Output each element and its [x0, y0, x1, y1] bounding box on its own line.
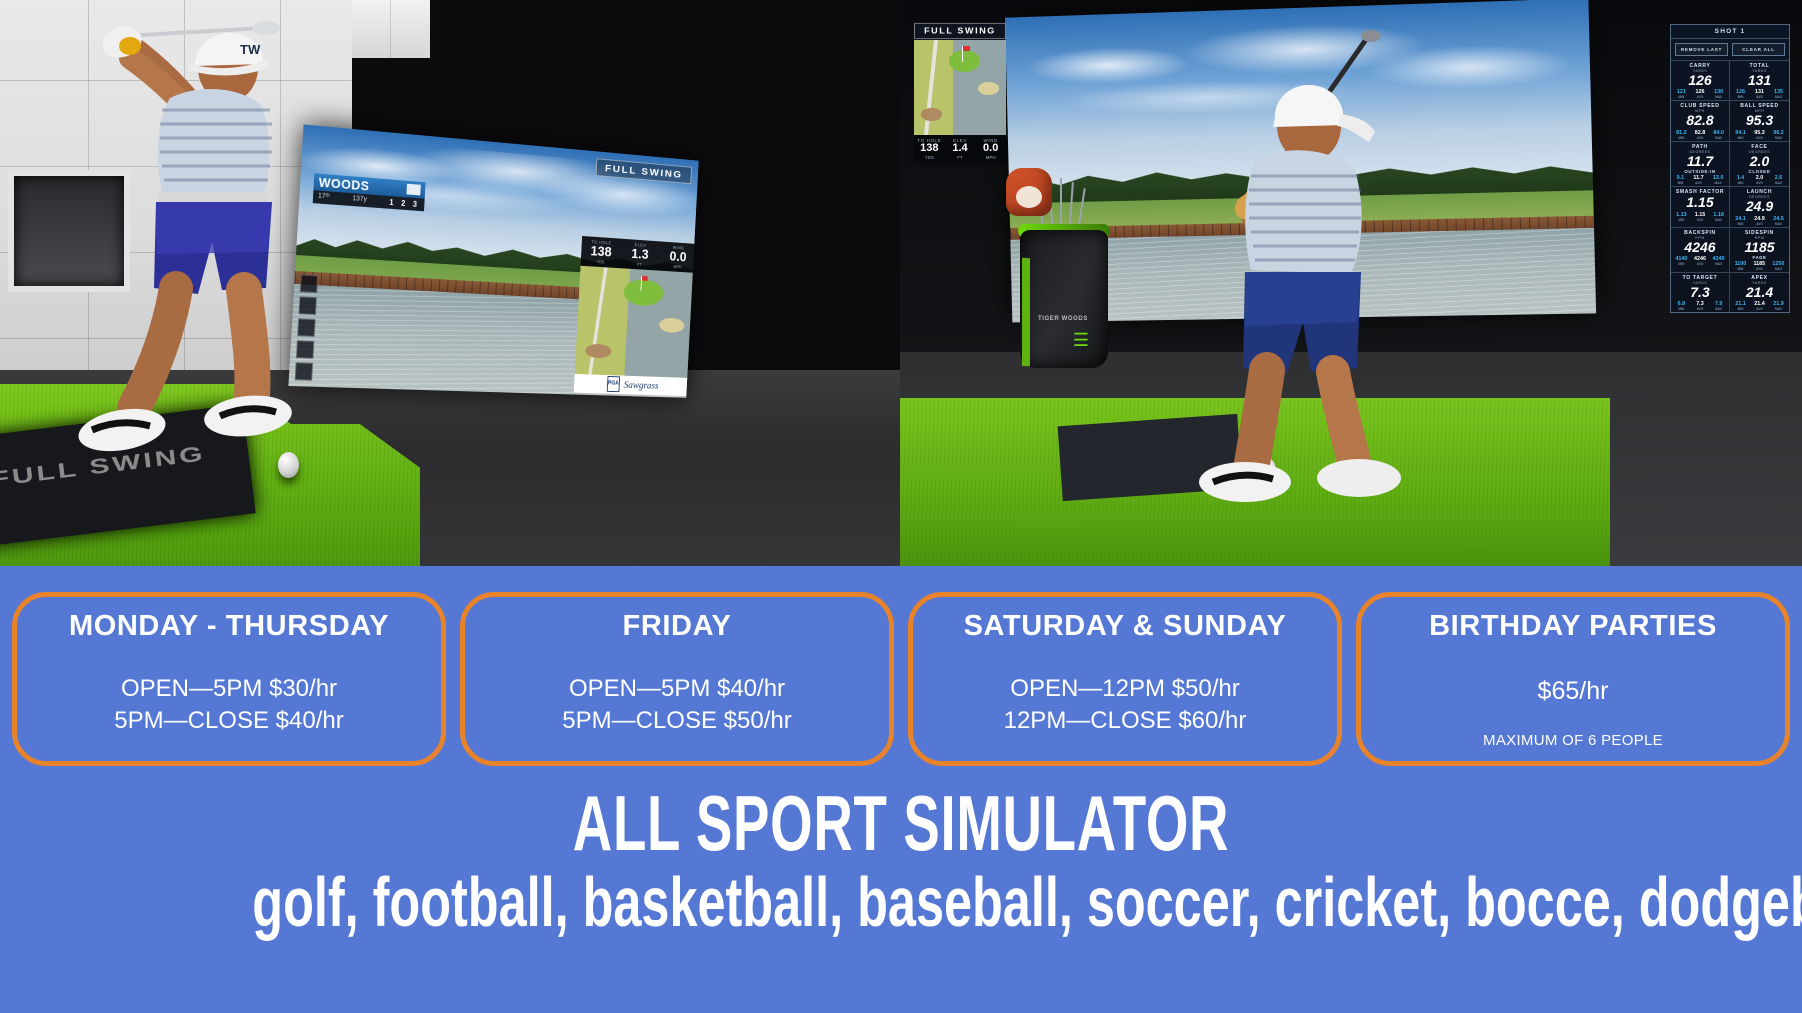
stat-minmax-label: AVG — [1755, 95, 1764, 99]
right-bay-photo: TIGER WOODS ☰ FULL SWING TO HOLE — [900, 0, 1802, 566]
stat-minmax-label: AVG — [1693, 181, 1703, 185]
stat-minmax-label: MIN — [1678, 307, 1686, 311]
stat-minmax-item: 1185AVG — [1753, 261, 1765, 271]
stat-unit: YDS — [914, 155, 945, 160]
pricing-banner: MONDAY - THURSDAYOPEN—5PM $30/hr5PM—CLOS… — [0, 566, 1802, 1013]
stat-minmax-label: MIN — [1735, 307, 1746, 311]
stat-unit: MPH — [975, 155, 1006, 160]
stat-minmax-value: 24.5 — [1773, 216, 1784, 222]
stat-minmax-label: MIN — [1676, 136, 1687, 140]
stat-to-hole: TO HOLE 138 YDS — [581, 239, 622, 265]
stat-minmax-label: MAX — [1713, 262, 1725, 266]
pricing-card[interactable]: FRIDAYOPEN—5PM $40/hr5PM—CLOSE $50/hr — [460, 592, 894, 766]
pricing-card-title: SATURDAY & SUNDAY — [964, 611, 1287, 643]
stat-minmax-label: MAX — [1773, 307, 1784, 311]
pricing-card-line: 12PM—CLOSE $60/hr — [1004, 705, 1247, 737]
stat-wind: WIND 0.0 MPH — [658, 244, 697, 270]
pricing-card-note: MAXIMUM OF 6 PEOPLE — [1483, 732, 1663, 749]
stat-cell: LAUNCHDEGREES24.924.1MIN24.9AVG24.5MAX — [1730, 186, 1789, 226]
stat-minmax-value: 1.13 — [1676, 212, 1687, 218]
stat-minmax-row: 24.1MIN24.9AVG24.5MAX — [1731, 216, 1788, 226]
stat-minmax-item: 84.0MAX — [1713, 130, 1724, 140]
stat-minmax-value: 82.8 — [1695, 130, 1706, 136]
hole-minimap-right — [914, 40, 1006, 135]
stat-minmax-row: 1100MIN1185AVG1250MAX — [1731, 261, 1788, 271]
pricing-card-title: BIRTHDAY PARTIES — [1429, 611, 1717, 643]
scoreboard-chip-icon — [406, 184, 420, 196]
hole-minimap-left — [575, 266, 696, 378]
stat-minmax-item: 24.9AVG — [1754, 216, 1765, 226]
stat-minmax-label: MIN — [1677, 95, 1686, 99]
headline-block: ALL SPORT SIMULATOR golf, football, bask… — [0, 786, 1802, 937]
stat-minmax-label: MAX — [1713, 218, 1724, 222]
bag-stripe — [1022, 258, 1030, 367]
stat-minmax-item: 121MIN — [1677, 89, 1686, 99]
stat-minmax-label: MAX — [1714, 95, 1723, 99]
stat-minmax-item: 7.9MAX — [1715, 301, 1723, 311]
stat-cell: PATHDEGREES11.7OUTSIDE-IN9.1MIN11.7AVG13… — [1671, 141, 1730, 186]
stat-minmax-label: MAX — [1772, 267, 1784, 271]
stat-value: 7.3 — [1672, 285, 1728, 300]
pricing-card-line: 5PM—CLOSE $40/hr — [114, 705, 343, 737]
stat-minmax-row: 21.1MIN21.4AVG21.9MAX — [1731, 301, 1788, 311]
headline-title: ALL SPORT SIMULATOR — [270, 786, 1531, 861]
stat-cell: BACKSPINRPM42464140MIN4246AVG4340MAX — [1671, 227, 1730, 272]
stat-minmax-label: MAX — [1774, 95, 1783, 99]
stat-cell: TOTALYARDS131126MIN131AVG135MAX — [1730, 60, 1789, 100]
golf-bag: TIGER WOODS ☰ — [1008, 168, 1120, 368]
stat-value: 1.4 — [945, 143, 976, 155]
stat-minmax-row: 1.13MIN1.15AVG1.18MAX — [1672, 212, 1728, 222]
full-swing-logo: FULL SWING — [914, 23, 1006, 39]
stat-value: 1.15 — [1672, 195, 1728, 210]
stat-minmax-item: 131AVG — [1755, 89, 1764, 99]
stat-minmax-item: 24.1MIN — [1735, 216, 1746, 226]
stat-value: 0.0 — [975, 143, 1006, 155]
photo-collage: FULL SWING FULL SWING WOODS 17ᵗʰ — [0, 0, 1802, 566]
stat-minmax-item: 96.2MAX — [1773, 130, 1784, 140]
stat-minmax-label: MIN — [1735, 136, 1746, 140]
stat-minmax-value: 96.2 — [1773, 130, 1784, 136]
stat-minmax-item: 9.1MIN — [1677, 175, 1685, 185]
minimap-pin-flag-icon — [962, 46, 963, 62]
stat-minmax-label: MIN — [1735, 267, 1747, 271]
pricing-card-lines: OPEN—12PM $50/hr12PM—CLOSE $60/hr — [1004, 673, 1247, 737]
stat-minmax-row: 121MIN126AVG130MAX — [1672, 89, 1728, 99]
stat-cell: BALL SPEEDMPH95.394.1MIN95.3AVG96.2MAX — [1730, 100, 1789, 140]
stat-minmax-item: 7.3AVG — [1696, 301, 1704, 311]
stat-minmax-item: 6.8MIN — [1678, 301, 1686, 311]
stat-minmax-item: 95.3AVG — [1754, 130, 1765, 140]
stat-subtext: CLOSED — [1731, 169, 1788, 174]
stat-cell: SMASH FACTOR1.151.13MIN1.15AVG1.18MAX — [1671, 186, 1730, 226]
simulator-screen-left: FULL SWING WOODS 17ᵗʰ 137y 1 2 3 — [288, 124, 698, 397]
stat-minmax-label: AVG — [1695, 136, 1706, 140]
stat-minmax-label: AVG — [1756, 181, 1764, 185]
stat-minmax-label: MIN — [1737, 181, 1745, 185]
stat-minmax-row: 1.4MIN2.0AVG2.6MAX — [1731, 175, 1788, 185]
shot-stats-grid: CARRYYARDS126121MIN126AVG130MAXTOTALYARD… — [1671, 60, 1789, 312]
stat-unit: FT — [945, 155, 976, 160]
stat-minmax-value: 24.9 — [1754, 216, 1765, 222]
stat-minmax-item: 21.1MIN — [1735, 301, 1746, 311]
stat-minmax-item: 81.2MIN — [1676, 130, 1687, 140]
pga-tour-logo-icon: PGA — [607, 376, 620, 392]
stat-minmax-item: 4340MAX — [1713, 256, 1725, 266]
pricing-card-line: OPEN—5PM $30/hr — [114, 673, 343, 705]
pricing-cards: MONDAY - THURSDAYOPEN—5PM $30/hr5PM—CLOS… — [0, 592, 1802, 766]
pricing-card-lines: OPEN—5PM $30/hr5PM—CLOSE $40/hr — [114, 673, 343, 737]
pricing-card-line: OPEN—12PM $50/hr — [1004, 673, 1247, 705]
stat-minmax-label: AVG — [1694, 262, 1706, 266]
stat-minmax-item: 126MIN — [1736, 89, 1745, 99]
tiger-headcover-icon — [1006, 168, 1052, 216]
golfer-figure-right — [1105, 30, 1435, 530]
shot-stats-buttons[interactable]: REMOVE LAST CLEAR ALL — [1671, 39, 1789, 60]
stat-minmax-item: 126AVG — [1695, 89, 1704, 99]
stat-minmax-item: 1.18MAX — [1713, 212, 1724, 222]
stat-minmax-value: 24.1 — [1735, 216, 1746, 222]
pricing-card-line: 5PM—CLOSE $50/hr — [562, 705, 791, 737]
stat-wind: WIND 0.0 MPH — [975, 138, 1006, 160]
stat-minmax-label: MAX — [1713, 136, 1724, 140]
stat-minmax-label: AVG — [1695, 95, 1704, 99]
left-bay-photo: FULL SWING FULL SWING WOODS 17ᵗʰ — [0, 0, 900, 566]
minimap-stats-right: TO HOLE 138 YDS ELEV 1.4 FT WIND 0.0 MPH — [914, 135, 1006, 163]
scoreboard-yardage: 137y — [352, 195, 367, 205]
stat-subtext: FADE — [1731, 255, 1788, 260]
stat-elev: ELEV 1.3 FT — [620, 241, 660, 267]
stat-minmax-value: 1.18 — [1713, 212, 1724, 218]
stat-value: 95.3 — [1731, 113, 1788, 128]
pricing-card-lines: OPEN—5PM $40/hr5PM—CLOSE $50/hr — [562, 673, 791, 737]
minimap-bunker-2 — [921, 108, 941, 120]
stat-minmax-item: 1100MIN — [1735, 261, 1747, 271]
stat-value: 2.0 — [1731, 154, 1788, 169]
stat-minmax-label: MIN — [1675, 262, 1687, 266]
course-name: Sawgrass — [623, 379, 658, 391]
stat-value: 21.4 — [1731, 285, 1788, 300]
stat-minmax-label: AVG — [1754, 307, 1765, 311]
stat-minmax-label: AVG — [1754, 222, 1765, 226]
stat-minmax-label: MIN — [1677, 181, 1685, 185]
stat-value: 131 — [1731, 73, 1788, 88]
stat-minmax-value: 1.15 — [1695, 212, 1706, 218]
stat-minmax-label: AVG — [1695, 218, 1706, 222]
stat-minmax-label: MAX — [1773, 136, 1784, 140]
minimap-overlay-left: TO HOLE 138 YDS ELEV 1.3 FT WIND 0.0 — [574, 236, 698, 396]
stat-minmax-row: 6.8MIN7.3AVG7.9MAX — [1672, 301, 1728, 311]
monster-logo-icon: ☰ — [1066, 330, 1096, 352]
stat-minmax-label: MAX — [1775, 181, 1783, 185]
stat-minmax-item: 24.5MAX — [1773, 216, 1784, 226]
stat-minmax-item: 4246AVG — [1694, 256, 1706, 266]
stat-minmax-item: 1.13MIN — [1676, 212, 1687, 222]
stat-elev: ELEV 1.4 FT — [945, 138, 976, 160]
pricing-card-line: OPEN—5PM $40/hr — [562, 673, 791, 705]
stat-cell: TO TARGETYARDS7.36.8MIN7.3AVG7.9MAX — [1671, 272, 1730, 312]
stat-minmax-value: 94.1 — [1735, 130, 1746, 136]
stat-cell: CARRYYARDS126121MIN126AVG130MAX — [1671, 60, 1730, 100]
stat-minmax-item: 1.4MIN — [1737, 175, 1745, 185]
stat-minmax-row: 81.2MIN82.8AVG84.0MAX — [1672, 130, 1728, 140]
stat-cell: SIDESPINRPM1185FADE1100MIN1185AVG1250MAX — [1730, 227, 1789, 272]
stat-value: 4246 — [1672, 240, 1728, 255]
stat-minmax-value: 84.0 — [1713, 130, 1724, 136]
pricing-card-title: FRIDAY — [623, 611, 732, 643]
stat-minmax-row: 4140MIN4246AVG4340MAX — [1672, 256, 1728, 266]
stat-value: 126 — [1672, 73, 1728, 88]
stat-minmax-item: 21.4AVG — [1754, 301, 1765, 311]
minimap-bunker — [978, 82, 998, 95]
scoreboard-markers: 1 2 3 — [389, 198, 420, 209]
shot-stats-panel: SHOT 1 REMOVE LAST CLEAR ALL CARRYYARDS1… — [1670, 24, 1790, 313]
stat-value: 11.7 — [1672, 154, 1728, 169]
shot-stats-header: SHOT 1 — [1671, 25, 1789, 39]
stat-cell: APEXYARDS21.421.1MIN21.4AVG21.9MAX — [1730, 272, 1789, 312]
remove-last-button[interactable]: REMOVE LAST — [1675, 43, 1728, 56]
stat-subtext: OUTSIDE-IN — [1672, 169, 1728, 174]
stat-minmax-item: 13.0MAX — [1713, 175, 1724, 185]
headline-subtitle: golf, football, basketball, baseball, so… — [252, 867, 1549, 937]
stat-minmax-item: 4140MIN — [1675, 256, 1687, 266]
golfer-figure-left: TW — [30, 6, 330, 476]
stat-minmax-value: 95.3 — [1754, 130, 1765, 136]
promo-banner-page: FULL SWING FULL SWING WOODS 17ᵗʰ — [0, 0, 1802, 1013]
stat-cell: CLUB SPEEDMPH82.881.2MIN82.8AVG84.0MAX — [1671, 100, 1730, 140]
stat-minmax-value: 81.2 — [1676, 130, 1687, 136]
stat-minmax-label: AVG — [1696, 307, 1704, 311]
stat-minmax-label: MIN — [1736, 95, 1745, 99]
stat-value: 138 — [914, 143, 945, 155]
stat-minmax-item: 1.15AVG — [1695, 212, 1706, 222]
stat-minmax-item: 82.8AVG — [1695, 130, 1706, 140]
stat-minmax-label: MAX — [1773, 222, 1784, 226]
stat-minmax-label: MIN — [1735, 222, 1746, 226]
pricing-card-title: MONDAY - THURSDAY — [69, 611, 389, 643]
stat-minmax-item: 135MAX — [1774, 89, 1783, 99]
svg-text:TW: TW — [240, 42, 261, 57]
stat-minmax-label: MIN — [1676, 218, 1687, 222]
stat-minmax-item: 2.6MAX — [1775, 175, 1783, 185]
pricing-card[interactable]: BIRTHDAY PARTIES$65/hrMAXIMUM OF 6 PEOPL… — [1356, 592, 1790, 766]
pricing-card[interactable]: SATURDAY & SUNDAYOPEN—12PM $50/hr12PM—CL… — [908, 592, 1342, 766]
stat-value: 1185 — [1731, 240, 1788, 255]
pricing-card-price: $65/hr — [1538, 677, 1609, 706]
stat-minmax-item: 1250MAX — [1772, 261, 1784, 271]
stat-value: 82.8 — [1672, 113, 1728, 128]
stat-minmax-row: 94.1MIN95.3AVG96.2MAX — [1731, 130, 1788, 140]
stat-minmax-item: 11.7AVG — [1693, 175, 1703, 185]
stat-value: 24.9 — [1731, 199, 1788, 214]
stat-minmax-item: 2.0AVG — [1756, 175, 1764, 185]
stat-minmax-label: AVG — [1754, 136, 1765, 140]
minimap-overlay-right: FULL SWING TO HOLE 138 YDS — [914, 22, 1006, 163]
stat-minmax-label: MAX — [1713, 181, 1724, 185]
bag-brand-text: TIGER WOODS — [1038, 316, 1088, 322]
stat-minmax-item: 94.1MIN — [1735, 130, 1746, 140]
stat-minmax-label: MAX — [1715, 307, 1723, 311]
stat-to-hole: TO HOLE 138 YDS — [914, 138, 945, 160]
stat-minmax-row: 9.1MIN11.7AVG13.0MAX — [1672, 175, 1728, 185]
clear-all-button[interactable]: CLEAR ALL — [1732, 43, 1785, 56]
stat-minmax-row: 126MIN131AVG135MAX — [1731, 89, 1788, 99]
stat-minmax-item: 130MAX — [1714, 89, 1723, 99]
stat-cell: FACEDEGREES2.0CLOSED1.4MIN2.0AVG2.6MAX — [1730, 141, 1789, 186]
pricing-card[interactable]: MONDAY - THURSDAYOPEN—5PM $30/hr5PM—CLOS… — [12, 592, 446, 766]
stat-minmax-item: 21.9MAX — [1773, 301, 1784, 311]
stat-minmax-label: AVG — [1753, 267, 1765, 271]
